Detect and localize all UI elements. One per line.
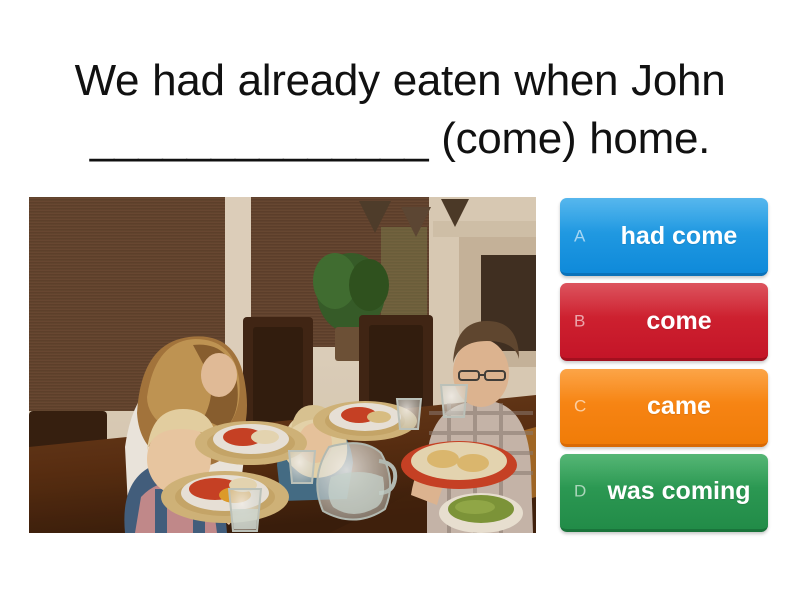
question-area: We had already eaten when John _________… [0, 52, 800, 177]
answer-label-b: come [560, 307, 768, 335]
answer-options: A had come B come C came D was coming [560, 198, 768, 532]
answer-option-d[interactable]: D was coming [560, 454, 768, 532]
answer-option-c[interactable]: C came [560, 369, 768, 447]
answer-label-d: was coming [560, 477, 768, 505]
answer-label-a: had come [560, 222, 768, 250]
answer-option-b[interactable]: B come [560, 283, 768, 361]
answer-label-c: came [560, 392, 768, 420]
content-row: A had come B come C came D was coming [0, 197, 800, 537]
answer-option-a[interactable]: A had come [560, 198, 768, 276]
family-dinner-illustration [29, 197, 536, 533]
question-text: We had already eaten when John _________… [18, 52, 782, 168]
question-image [29, 197, 536, 533]
